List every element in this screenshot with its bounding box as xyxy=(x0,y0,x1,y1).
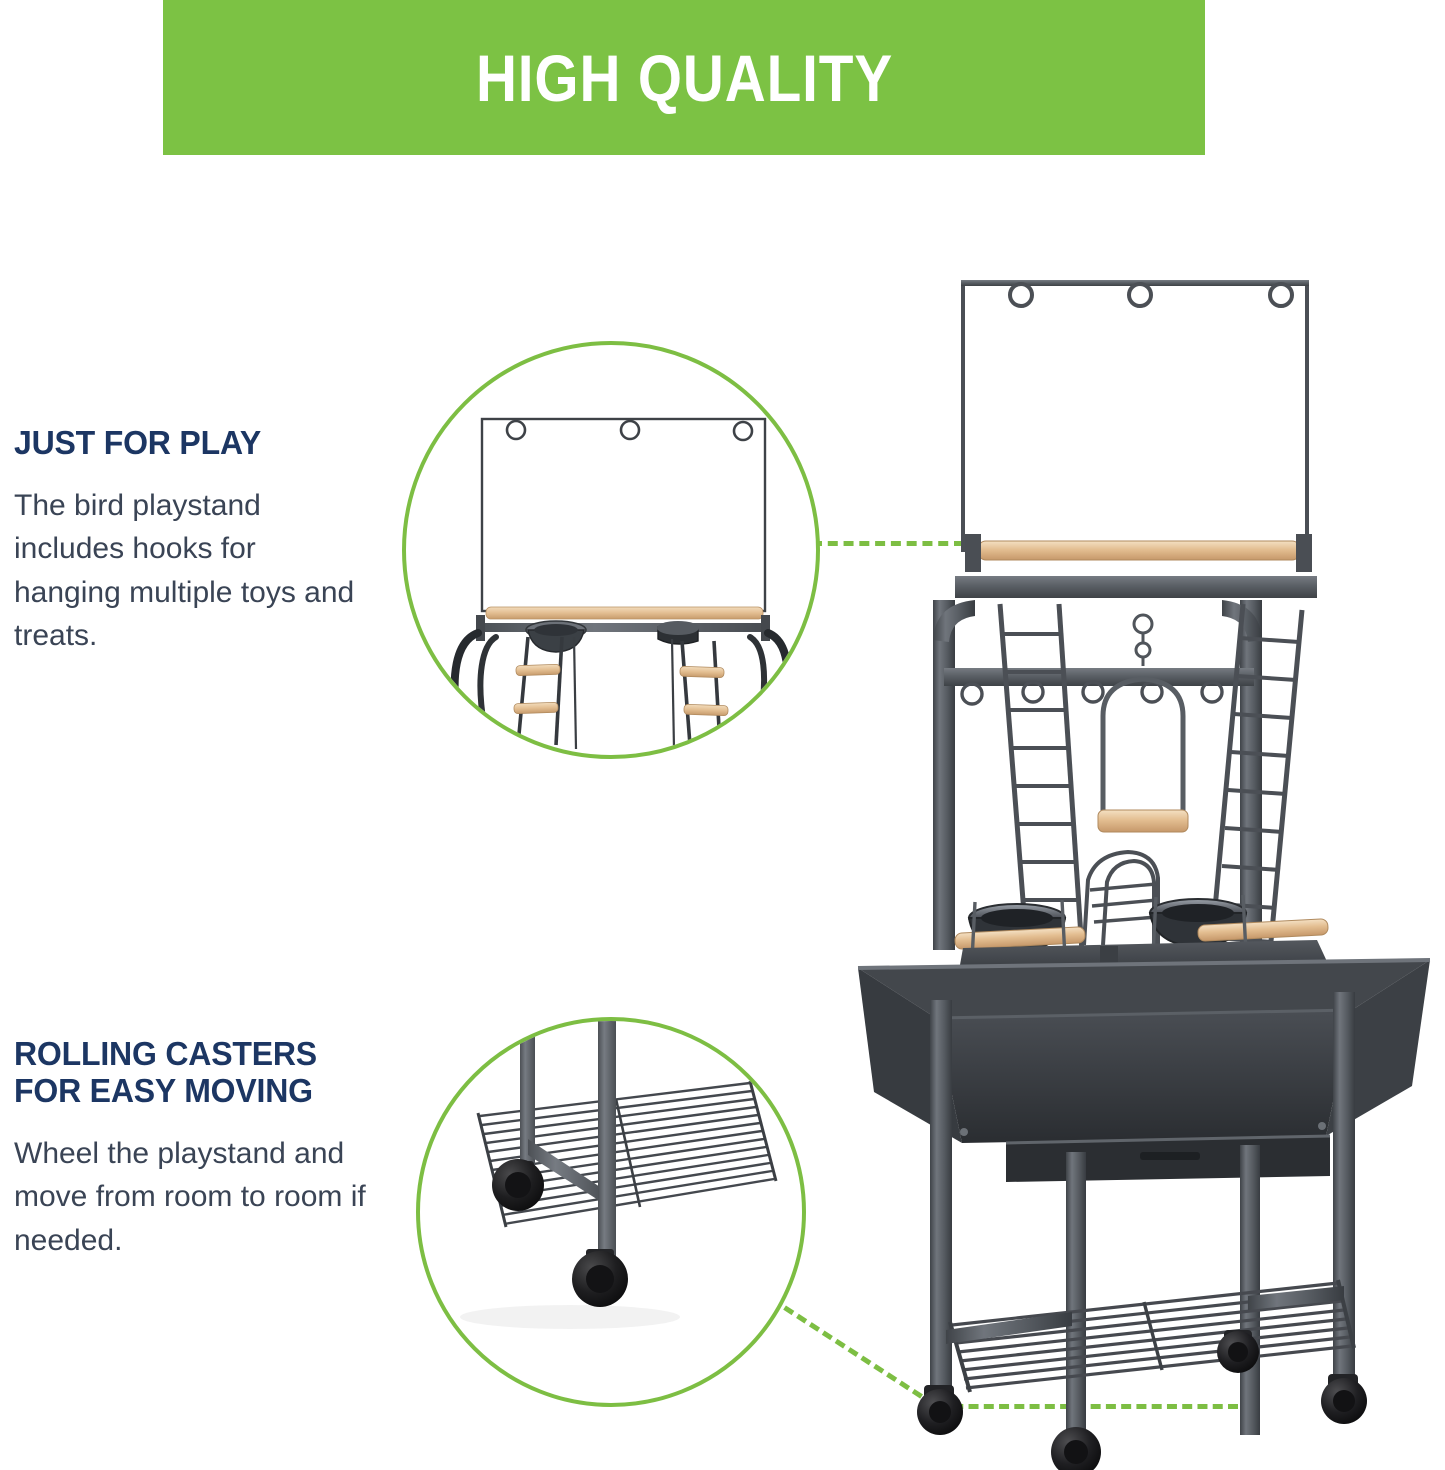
callout-circle-casters xyxy=(416,1017,806,1407)
hanging-wooden-swing xyxy=(1098,615,1188,832)
right-ladder xyxy=(1211,604,1302,952)
toy-hook-ring xyxy=(1142,682,1162,702)
hook-ring xyxy=(1010,284,1032,306)
top-hanging-frame xyxy=(961,280,1309,550)
arched-wire-bridge xyxy=(1084,852,1158,945)
tray-top-grid xyxy=(958,940,1330,1008)
feature-heading: ROLLING CASTERS FOR EASY MOVING xyxy=(14,1036,383,1110)
caster-wheel xyxy=(1321,1374,1367,1424)
caster-wheel xyxy=(1051,1427,1101,1470)
feature-body-text: The bird playstand includes hooks for ha… xyxy=(14,484,364,658)
left-ladder xyxy=(1000,604,1082,952)
high-quality-banner: HIGH QUALITY xyxy=(163,0,1205,155)
wooden-perch-bar xyxy=(965,534,1312,572)
callout-circle-top-frame xyxy=(402,341,820,759)
toy-hook-ring xyxy=(962,684,982,704)
slide-out-drawer xyxy=(1006,1136,1330,1182)
caster-detail-illustration xyxy=(420,1021,804,1405)
connector-line-top xyxy=(812,541,964,546)
wire-bottom-shelf xyxy=(946,1280,1354,1392)
rolling-casters xyxy=(917,1330,1367,1470)
leg-back-right xyxy=(1240,1145,1260,1435)
stainless-steel-bowl-left xyxy=(969,904,1065,952)
toy-hanging-rail xyxy=(944,668,1254,704)
toy-hook-ring xyxy=(1083,682,1103,702)
upper-cross-rail xyxy=(955,576,1317,598)
right-upright xyxy=(1240,600,1262,950)
left-upright xyxy=(933,600,955,950)
stainless-steel-bowl-right xyxy=(1150,899,1246,947)
feature-block-rolling-casters: ROLLING CASTERS FOR EASY MOVING Wheel th… xyxy=(14,1036,394,1262)
toy-hook-ring xyxy=(1202,682,1222,702)
feature-body-text: Wheel the playstand and move from room t… xyxy=(14,1132,394,1263)
feature-block-just-for-play: JUST FOR PLAY The bird playstand include… xyxy=(14,425,364,658)
banner-title: HIGH QUALITY xyxy=(475,45,892,111)
hook-ring xyxy=(1270,284,1292,306)
connector-line-bottom-horizontal xyxy=(938,1404,1238,1409)
toy-hook-ring xyxy=(1023,682,1043,702)
feature-heading: JUST FOR PLAY xyxy=(14,425,354,462)
top-frame-detail-illustration xyxy=(406,345,816,755)
leg-front-right xyxy=(1333,992,1355,1384)
hook-ring xyxy=(1129,284,1151,306)
lower-perch-right xyxy=(1198,919,1329,942)
lower-perch-left xyxy=(955,927,1086,950)
seed-catcher-tray xyxy=(858,960,1430,1182)
leg-front-left xyxy=(930,1000,952,1395)
caster-wheel xyxy=(1217,1330,1259,1373)
